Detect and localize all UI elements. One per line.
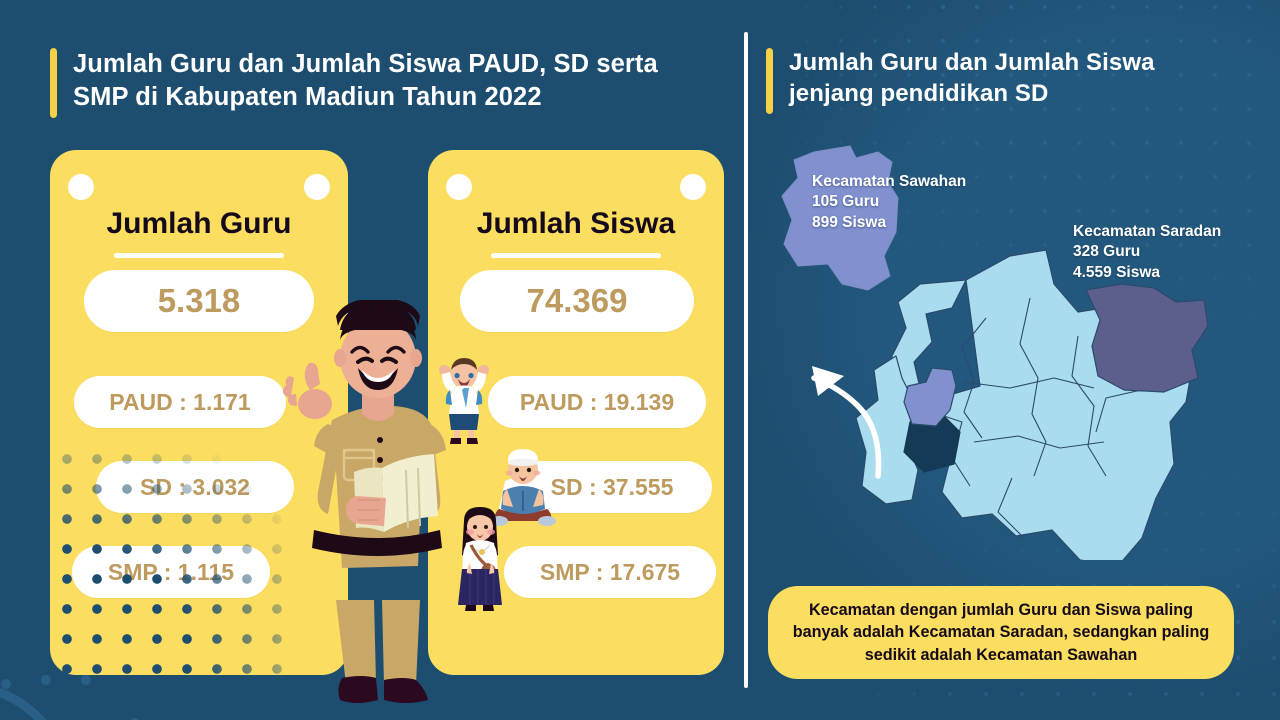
title-accent-bar bbox=[766, 48, 773, 114]
map-label-saradan: Kecamatan Saradan 328 Guru 4.559 Siswa bbox=[1073, 222, 1221, 283]
map-label-saradan-name: Kecamatan Saradan bbox=[1073, 222, 1221, 242]
card-jumlah-siswa: Jumlah Siswa 74.369 PAUD : 19.139 SD : 3… bbox=[428, 150, 724, 675]
left-panel-title: Jumlah Guru dan Jumlah Siswa PAUD, SD se… bbox=[50, 48, 710, 118]
card-siswa-total-value: 74.369 bbox=[460, 270, 694, 332]
card-guru-row-sd: SD : 3.032 bbox=[96, 461, 294, 513]
card-punch-hole-right bbox=[304, 174, 330, 200]
card-guru-row-smp: SMP : 1.115 bbox=[72, 546, 270, 598]
left-title-text: Jumlah Guru dan Jumlah Siswa PAUD, SD se… bbox=[73, 48, 710, 113]
map-label-sawahan-students: 899 Siswa bbox=[812, 213, 966, 233]
card-siswa-underline bbox=[491, 253, 661, 258]
card-siswa-heading: Jumlah Siswa bbox=[428, 207, 724, 241]
card-siswa-row-paud: PAUD : 19.139 bbox=[488, 376, 706, 428]
infographic-canvas: Jumlah Guru dan Jumlah Siswa PAUD, SD se… bbox=[0, 0, 1280, 720]
card-punch-hole-left bbox=[68, 174, 94, 200]
map-label-sawahan-teachers: 105 Guru bbox=[812, 192, 966, 212]
card-guru-underline bbox=[114, 253, 284, 258]
map-label-sawahan-name: Kecamatan Sawahan bbox=[812, 172, 966, 192]
card-siswa-row-sd: SD : 37.555 bbox=[512, 461, 712, 513]
card-guru-total-value: 5.318 bbox=[84, 270, 314, 332]
panel-divider bbox=[744, 32, 748, 688]
summary-note: Kecamatan dengan jumlah Guru dan Siswa p… bbox=[768, 586, 1234, 679]
card-punch-hole-left bbox=[446, 174, 472, 200]
right-title-text: Jumlah Guru dan Jumlah Siswa jenjang pen… bbox=[789, 48, 1236, 109]
card-guru-heading: Jumlah Guru bbox=[50, 207, 348, 241]
right-panel-title: Jumlah Guru dan Jumlah Siswa jenjang pen… bbox=[766, 48, 1236, 114]
card-jumlah-guru: Jumlah Guru 5.318 PAUD : 1.171 SD : 3.03… bbox=[50, 150, 348, 675]
card-punch-hole-right bbox=[680, 174, 706, 200]
card-guru-row-paud: PAUD : 1.171 bbox=[74, 376, 286, 428]
map-label-sawahan: Kecamatan Sawahan 105 Guru 899 Siswa bbox=[812, 172, 966, 233]
title-accent-bar bbox=[50, 48, 57, 118]
map-label-saradan-teachers: 328 Guru bbox=[1073, 242, 1221, 262]
card-siswa-row-smp: SMP : 17.675 bbox=[504, 546, 716, 598]
map-label-saradan-students: 4.559 Siswa bbox=[1073, 263, 1221, 283]
